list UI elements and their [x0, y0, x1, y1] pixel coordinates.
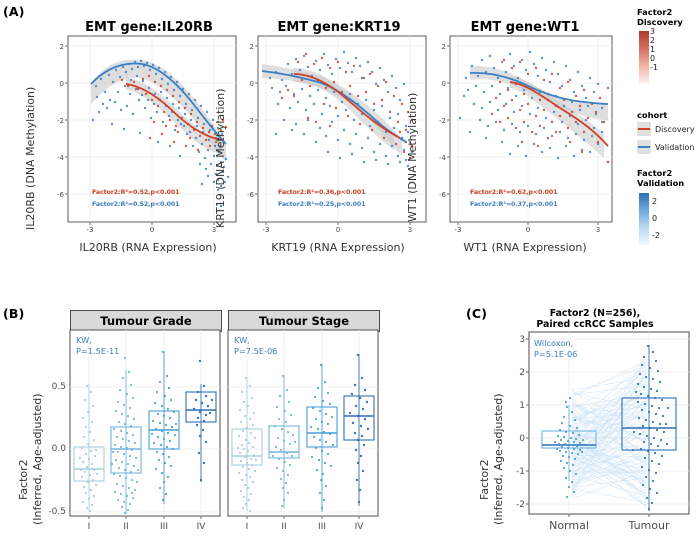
svg-text:0: 0	[526, 226, 530, 234]
svg-text:0: 0	[519, 434, 525, 444]
legend-validation-ticks: 2 0 -2	[652, 193, 660, 244]
svg-text:2: 2	[60, 43, 64, 51]
scatter-il20rb-annot-validation: Factor2:R²=0.52,p<0.001	[92, 201, 179, 208]
legend-validation-tick-0: 2	[652, 193, 660, 210]
legend-discovery-tick-1: 2	[650, 36, 658, 45]
box-tumour-stage-plot: KW, P=7.5E-06 IIIIIIIV	[228, 330, 378, 516]
box-tumour-stage-pvalue: P=7.5E-06	[234, 346, 277, 356]
scatter-il20rb-xlabel: IL20RB (RNA Expression)	[48, 236, 248, 255]
box-paired-pvalue: P=5.1E-06	[534, 349, 577, 359]
scatter-il20rb-annot-discovery: Factor2:R²=0.52,p<0.001	[92, 189, 179, 196]
box-paired-ccrcc-plot: 321 0-1-2	[500, 332, 695, 538]
svg-text:0: 0	[60, 80, 64, 88]
scatter-krt19-xlabel: KRT19 (RNA Expression)	[238, 236, 438, 255]
svg-text:-4: -4	[57, 154, 65, 162]
scatter-wt1-annot-validation: Factor2:R²=0.37,p<0.001	[470, 201, 557, 208]
box-paired-test: Wilcoxon,	[534, 338, 573, 348]
panel-b-ytick-1: 0.0	[44, 444, 66, 454]
scatter-wt1-xlabel: WT1 (RNA Expression)	[430, 236, 620, 255]
svg-text:-4: -4	[247, 154, 255, 162]
svg-text:-2: -2	[516, 500, 525, 510]
svg-text:0: 0	[150, 226, 154, 234]
legend-validation-colorbar	[638, 192, 650, 246]
legend-cohort-item-discovery[interactable]: Discovery	[637, 122, 695, 136]
scatter-krt19-annot-validation: Factor2:R²=0.25,p<0.001	[278, 201, 365, 208]
legend-discovery-title-2: Discovery	[637, 17, 683, 27]
legend-discovery-ticks: 3 2 1 0 -1	[650, 27, 658, 72]
svg-text:0: 0	[336, 226, 340, 234]
legend-validation: Factor2 Validation	[637, 168, 684, 188]
svg-text:0: 0	[250, 80, 254, 88]
legend-validation-tick-1: 0	[652, 210, 660, 227]
panel-b-ylabel-line2: (Inferred, Age-adjusted)	[31, 393, 44, 525]
panel-c-ylabel-line1: Factor2	[478, 459, 491, 500]
legend-discovery: Factor2 Discovery	[637, 7, 683, 27]
svg-text:Tumour: Tumour	[628, 519, 670, 532]
panel-c-title-line1: Factor2 (N=256),	[500, 308, 690, 320]
legend-cohort-label-validation: Validation	[655, 143, 695, 152]
svg-text:2: 2	[519, 368, 525, 378]
box-tumour-grade-pvalue: P=1.5E-11	[76, 346, 119, 356]
svg-text:-6: -6	[439, 191, 447, 199]
box-tumour-grade-plot: KW, P=1.5E-11 IIIIIIIV	[70, 330, 220, 516]
panel-b-ytick-2: -0.5	[44, 507, 66, 517]
svg-text:3: 3	[519, 335, 525, 345]
scatter-il20rb-title: EMT gene:IL20RB	[60, 20, 238, 35]
legend-cohort-swatch-validation	[637, 140, 651, 154]
legend-discovery-title-1: Factor2	[637, 7, 683, 17]
legend-discovery-tick-0: 3	[650, 27, 658, 36]
panel-b-ylabel-line1: Factor2	[17, 459, 30, 500]
legend-discovery-tick-3: 0	[650, 54, 658, 63]
svg-text:-2: -2	[439, 117, 446, 125]
scatter-il20rb-plot: 20 -2-4-6	[30, 34, 242, 238]
svg-text:I: I	[246, 522, 249, 532]
svg-text:0: 0	[442, 80, 446, 88]
svg-text:Normal: Normal	[549, 519, 589, 532]
legend-cohort-label-discovery: Discovery	[655, 125, 695, 134]
scatter-wt1-annot-discovery: Factor2:R²=0.62,p<0.001	[470, 189, 557, 196]
svg-text:IV: IV	[355, 522, 365, 532]
panel-b-ytick-0: 0.5	[44, 382, 66, 392]
legend-cohort-item-validation[interactable]: Validation	[637, 140, 695, 154]
legend-cohort-title: cohort	[637, 110, 667, 120]
panel-c-letter: (C)	[466, 306, 487, 321]
facet-strip-tumour-stage: Tumour Stage	[228, 310, 380, 332]
svg-text:II: II	[123, 522, 128, 532]
svg-text:III: III	[318, 522, 326, 532]
legend-validation-title-2: Validation	[637, 178, 684, 188]
svg-text:-4: -4	[439, 154, 447, 162]
svg-text:-3: -3	[263, 226, 270, 234]
panel-c-title-line2: Paired ccRCC Samples	[500, 319, 690, 331]
box-tumour-stage-test: KW,	[234, 335, 250, 345]
scatter-krt19-annot-discovery: Factor2:R²=0.36,p<0.001	[278, 189, 365, 196]
scatter-krt19-title: EMT gene:KRT19	[250, 20, 428, 35]
box-tumour-grade-test: KW,	[76, 335, 92, 345]
svg-text:2: 2	[250, 43, 254, 51]
svg-text:-1: -1	[516, 467, 525, 477]
figure-root: (A) EMT gene:IL20RB IL20RB (RNA Expressi…	[0, 0, 700, 541]
svg-text:-3: -3	[87, 226, 94, 234]
facet-strip-tumour-grade: Tumour Grade	[70, 310, 222, 332]
svg-text:II: II	[281, 522, 286, 532]
svg-text:III: III	[160, 522, 168, 532]
legend-discovery-colorbar	[638, 30, 650, 84]
svg-text:-3: -3	[455, 226, 462, 234]
scatter-wt1-plot: 20 -2-4-6	[412, 34, 617, 238]
scatter-wt1-title: EMT gene:WT1	[440, 20, 610, 35]
svg-text:I: I	[88, 522, 91, 532]
svg-text:IV: IV	[197, 522, 207, 532]
legend-validation-tick-2: -2	[652, 227, 660, 244]
svg-text:1: 1	[519, 401, 525, 411]
svg-text:2: 2	[442, 43, 446, 51]
svg-text:3: 3	[596, 226, 600, 234]
legend-validation-title-1: Factor2	[637, 168, 684, 178]
svg-text:-6: -6	[247, 191, 255, 199]
legend-cohort-swatch-discovery	[637, 122, 651, 136]
scatter-krt19-plot: 20 -2-4-6	[220, 34, 432, 238]
svg-text:-2: -2	[57, 117, 64, 125]
legend-discovery-tick-2: 1	[650, 45, 658, 54]
svg-text:-2: -2	[247, 117, 254, 125]
legend-discovery-tick-4: -1	[650, 63, 658, 72]
panel-b-letter: (B)	[3, 306, 25, 321]
svg-text:-6: -6	[57, 191, 65, 199]
panel-a-letter: (A)	[3, 4, 25, 19]
